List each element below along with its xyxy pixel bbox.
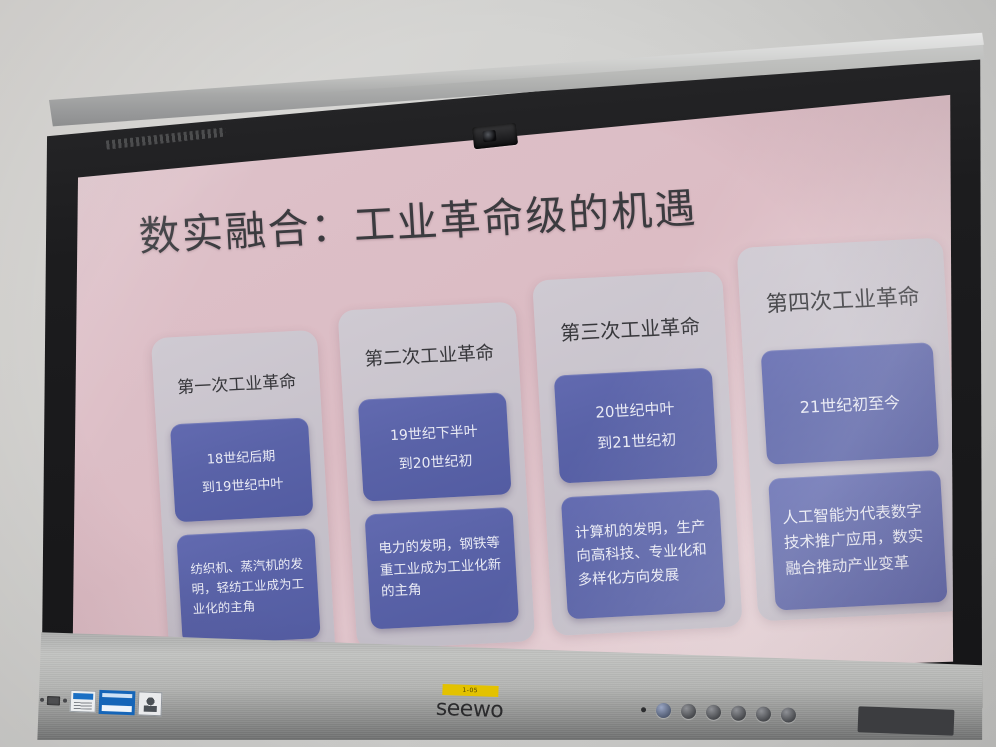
- card-description-box[interactable]: 电力的发明，钢铁等重工业成为工业化新的主角: [365, 507, 520, 629]
- ir-receiver-panel: [858, 706, 955, 736]
- period-line: 到19世纪中叶: [201, 472, 284, 495]
- card-title: 第二次工业革命: [340, 338, 519, 373]
- warning-label-sticker: [138, 691, 163, 716]
- card-description: 人工智能为代表数字技术推广应用，数实融合推动产业变革: [782, 499, 934, 582]
- card-first-industrial-revolution[interactable]: 第一次工业革命 18世纪后期 到19世纪中叶 纺织机、蒸汽机的发明，轻纺工业成为…: [151, 330, 336, 666]
- period-line: 19世纪下半叶: [389, 420, 478, 444]
- card-description: 计算机的发明，生产向高科技、专业化和多样化方向发展: [574, 516, 712, 593]
- card-period-box[interactable]: 19世纪下半叶 到20世纪初: [358, 392, 512, 501]
- card-title: 第三次工业革命: [534, 309, 725, 348]
- brand-name: seewo: [435, 696, 503, 723]
- card-period-box[interactable]: 18世纪后期 到19世纪中叶: [170, 417, 314, 522]
- blue-asset-sticker: [99, 690, 136, 715]
- power-button[interactable]: [656, 703, 672, 719]
- period-line: 18世纪后期: [206, 445, 276, 467]
- period-line: 20世纪中叶: [595, 398, 675, 423]
- source-button[interactable]: [756, 706, 772, 722]
- led-indicator-icon: [641, 707, 646, 712]
- card-description-box[interactable]: 人工智能为代表数字技术推广应用，数实融合推动产业变革: [768, 470, 947, 611]
- card-title: 第四次工业革命: [739, 277, 947, 320]
- card-title: 第一次工业革命: [153, 366, 320, 400]
- card-description: 电力的发明，钢铁等重工业成为工业化新的主角: [378, 532, 506, 604]
- card-description-box[interactable]: 计算机的发明，生产向高科技、专业化和多样化方向发展: [561, 489, 726, 619]
- card-period-box[interactable]: 20世纪中叶 到21世纪初: [554, 368, 718, 484]
- brand-logo-group: 1-05 seewo: [435, 684, 504, 723]
- period-line: 21世纪初至今: [799, 389, 901, 418]
- indicator-dot-icon: [40, 698, 44, 702]
- indicator-dot-icon: [63, 699, 67, 703]
- card-description-box[interactable]: 纺织机、蒸汽机的发明，轻纺工业成为工业化的主角: [176, 528, 320, 645]
- spec-label-sticker: [70, 690, 97, 713]
- card-fourth-industrial-revolution[interactable]: 第四次工业革命 21世纪初至今 人工智能为代表数字技术推广应用，数实融合推动产业…: [737, 238, 965, 622]
- bottom-left-ports-group[interactable]: [40, 688, 163, 716]
- asset-tag-sticker: 1-05: [442, 684, 498, 697]
- period-line: 到21世纪初: [597, 428, 677, 453]
- home-button[interactable]: [781, 707, 797, 723]
- volume-up-button[interactable]: [731, 705, 747, 721]
- interactive-flat-panel-display: 数实融合：工业革命级的机遇 第一次工业革命 18世纪后期 到19世纪中叶 纺织机…: [18, 28, 986, 740]
- volume-down-button[interactable]: [706, 705, 722, 721]
- period-line: 到20世纪初: [398, 449, 473, 473]
- card-description: 纺织机、蒸汽机的发明，轻纺工业成为工业化的主角: [190, 553, 307, 620]
- card-period-box[interactable]: 21世纪初至今: [761, 342, 939, 465]
- card-third-industrial-revolution[interactable]: 第三次工业革命 20世纪中叶 到21世纪初 计算机的发明，生产向高科技、专业化和…: [532, 271, 743, 636]
- card-second-industrial-revolution[interactable]: 第二次工业革命 19世纪下半叶 到20世纪初 电力的发明，钢铁等重工业成为工业化…: [338, 302, 536, 651]
- menu-button[interactable]: [681, 704, 697, 720]
- camera-lens-icon: [482, 130, 496, 142]
- usb-port-icon[interactable]: [47, 696, 60, 705]
